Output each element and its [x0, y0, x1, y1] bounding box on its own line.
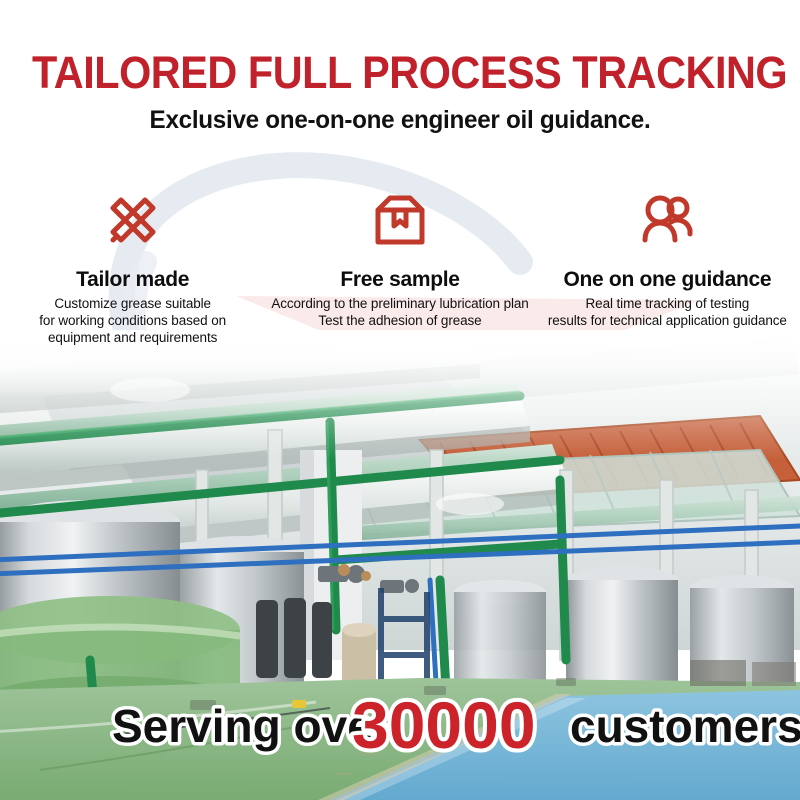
feature-desc-line: results for technical application guidan…	[541, 312, 794, 329]
feature-title: Tailor made	[6, 255, 259, 292]
feature-description: According to the preliminary lubrication…	[271, 292, 528, 329]
feature-item-free-sample: Free sample According to the preliminary…	[265, 185, 534, 346]
header: TAILORED FULL PROCESS TRACKING Exclusive…	[0, 0, 800, 135]
feature-item-tailor-made: Tailor made Customize grease suitable fo…	[0, 185, 265, 346]
ruler-pencil-icon	[6, 185, 259, 255]
package-box-icon	[271, 185, 528, 255]
customer-count-banner: Serving over 30000 customers!	[0, 690, 800, 760]
feature-item-one-on-one: One on one guidance Real time tracking o…	[535, 185, 800, 346]
feature-desc-line: for working conditions based on	[6, 312, 259, 329]
feature-description: Real time tracking of testing results fo…	[541, 292, 794, 329]
page-title: TAILORED FULL PROCESS TRACKING	[32, 0, 768, 98]
feature-desc-line: According to the preliminary lubrication…	[271, 295, 528, 312]
feature-title: One on one guidance	[541, 255, 794, 292]
feature-title: Free sample	[271, 255, 528, 292]
customer-count-banner-text: Serving over 30000 customers!	[0, 690, 800, 760]
feature-description: Customize grease suitable for working co…	[6, 292, 259, 346]
two-people-icon	[541, 185, 794, 255]
feature-desc-line: Customize grease suitable	[6, 295, 259, 312]
feature-desc-line: equipment and requirements	[6, 329, 259, 346]
banner-count: 30000	[352, 690, 536, 760]
banner-suffix: customers!	[570, 700, 800, 752]
feature-desc-line: Test the adhesion of grease	[271, 312, 528, 329]
feature-list: Tailor made Customize grease suitable fo…	[0, 185, 800, 346]
banner-prefix: Serving over	[112, 700, 391, 752]
infographic-page: TAILORED FULL PROCESS TRACKING Exclusive…	[0, 0, 800, 800]
feature-desc-line: Real time tracking of testing	[541, 295, 794, 312]
page-subtitle: Exclusive one-on-one engineer oil guidan…	[12, 98, 788, 135]
